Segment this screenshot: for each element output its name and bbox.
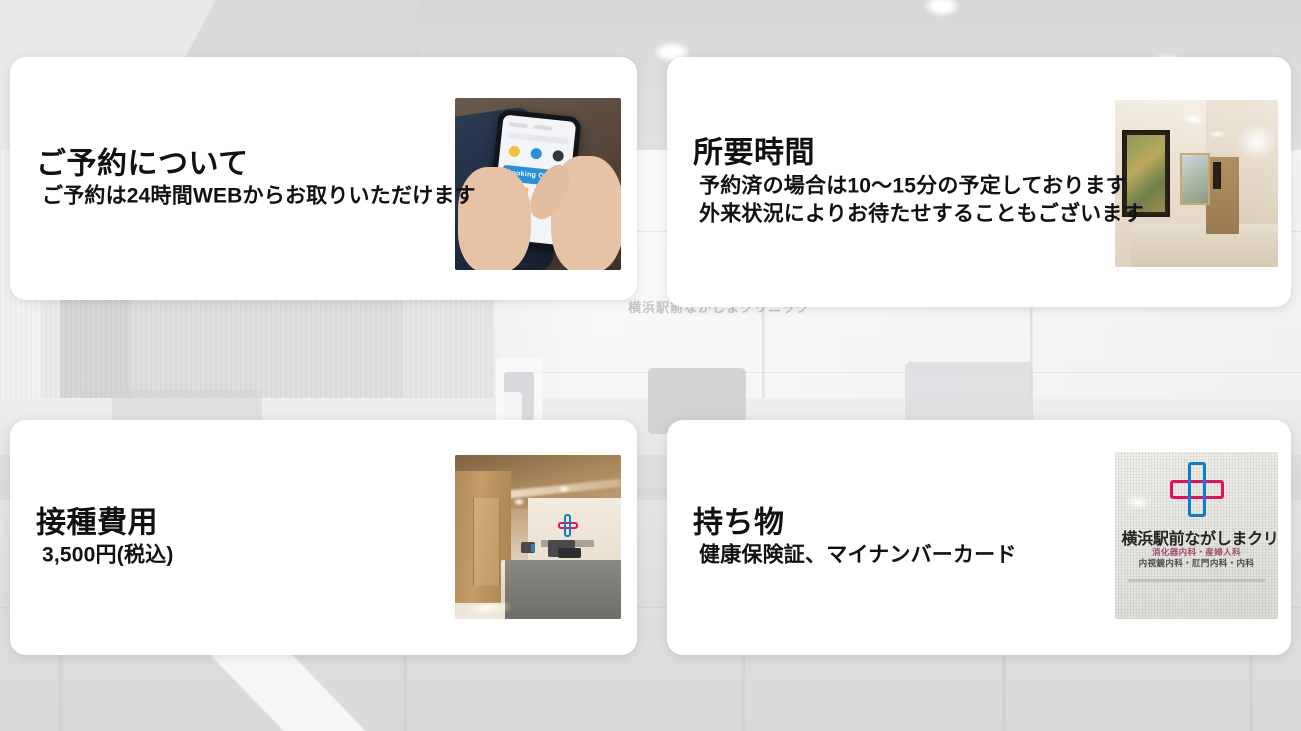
card-text-block: 持ち物 健康保険証、マイナンバーカード [693, 505, 1017, 570]
card-desc-line: 健康保険証、マイナンバーカード [699, 542, 1017, 570]
info-card-reservation[interactable]: Booking Online ご予約について ご予約は24時間WEBからお取りい… [10, 57, 637, 300]
card-desc-line: 外来状況によりお待たせすることもございます [699, 200, 1144, 228]
card-text-block: 接種費用 3,500円(税込) [36, 505, 174, 570]
card-desc-line: 予約済の場合は10〜15分の予定しております [699, 172, 1144, 200]
info-card-bring[interactable]: 横浜駅前ながしまクリニック 消化器内科・産婦人科 内視鏡内科・肛門内科・内科 持… [667, 420, 1291, 655]
card-desc-line: ご予約は24時間WEBからお取りいただけます [42, 183, 476, 211]
card-text-block: 所要時間 予約済の場合は10〜15分の予定しております 外来状況によりお待たせす… [693, 136, 1144, 229]
card-title: ご予約について [36, 146, 476, 183]
card-title: 所要時間 [693, 136, 1144, 173]
info-card-cost[interactable]: 接種費用 3,500円(税込) [10, 420, 637, 655]
clinic-logo-icon [558, 514, 578, 537]
sign-dept-line-2: 内視鏡内科・肛門内科・内科 [1125, 557, 1268, 569]
clinic-sign-photo: 横浜駅前ながしまクリニック 消化器内科・産婦人科 内視鏡内科・肛門内科・内科 [1115, 452, 1278, 619]
card-text-block: ご予約について ご予約は24時間WEBからお取りいただけます [36, 146, 476, 211]
card-desc-line: 3,500円(税込) [42, 542, 174, 570]
info-card-duration[interactable]: 所要時間 予約済の場合は10〜15分の予定しております 外来状況によりお待たせす… [667, 57, 1291, 307]
card-title: 接種費用 [36, 505, 174, 542]
phone-booking-photo: Booking Online [455, 98, 621, 270]
sign-dept-line-1: 消化器内科・産婦人科 [1131, 546, 1261, 558]
clinic-logo-icon [1170, 462, 1224, 517]
reception-counter-photo [455, 455, 621, 619]
card-title: 持ち物 [693, 505, 1017, 542]
slide-canvas: 横浜駅前ながしまクリニック [0, 0, 1301, 731]
